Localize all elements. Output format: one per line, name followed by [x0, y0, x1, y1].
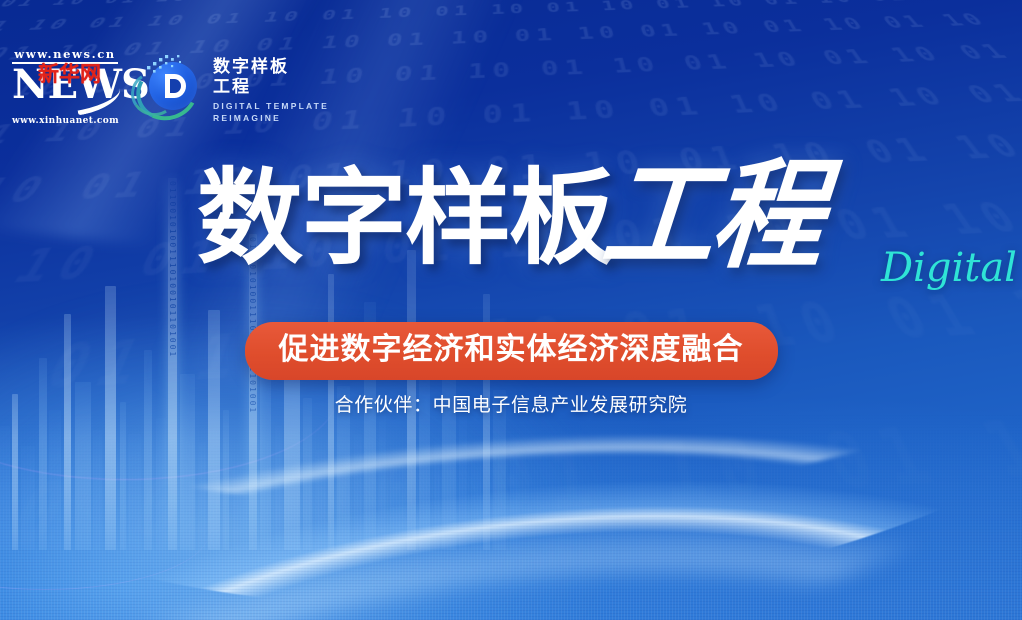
- chart-bar: [379, 414, 386, 550]
- chart-bar: [144, 350, 152, 550]
- weave-texture: [0, 410, 1022, 620]
- slogan-pill: 促进数字经济和实体经济深度融合: [245, 322, 778, 380]
- chart-bar: [49, 410, 61, 550]
- partner-row: 合作伙伴：中国电子信息产业发展研究院: [0, 392, 1022, 418]
- chart-bar: [120, 402, 126, 550]
- hero-title-sub-en: Digital: [881, 248, 1017, 288]
- chart-bar: [510, 434, 519, 550]
- partner-text: 合作伙伴：中国电子信息产业发展研究院: [335, 392, 688, 418]
- dt-title-cn-line2: 工程: [213, 77, 329, 97]
- digital-template-mark-icon: [132, 52, 204, 126]
- xinhua-net-logo[interactable]: www.news.cn NEWS 新华网 www.xinhuanet.com: [12, 46, 118, 126]
- binary-row: 10 01 10 01 10 01 10 01 10 01 10 01 10 0…: [0, 0, 1022, 42]
- chart-bar: [316, 450, 326, 550]
- xinhua-wordmark: NEWS 新华网: [12, 65, 118, 115]
- xinhua-top-url: www.news.cn: [12, 48, 118, 60]
- chart-bar: [0, 426, 10, 550]
- slogan-row: 促进数字经济和实体经济深度融合: [0, 322, 1022, 380]
- chart-bar: [354, 434, 362, 550]
- digital-template-logo[interactable]: 数字样板 工程 DIGITAL TEMPLATE REIMAGINE: [132, 52, 329, 126]
- poster-banner: 01 10 01 10 01 10 01 10 01 10 01 10 01 1…: [0, 0, 1022, 620]
- chart-bar: [21, 446, 35, 550]
- chart-bar: [39, 358, 47, 550]
- hero-title-brush: 工程: [598, 157, 826, 276]
- chart-bar: [459, 406, 467, 550]
- pixel-dots-icon: [146, 54, 186, 80]
- digital-template-wordmark: 数字样板 工程 DIGITAL TEMPLATE REIMAGINE: [213, 55, 329, 124]
- chart-bar: [471, 454, 481, 550]
- chart-bar: [199, 442, 206, 550]
- hero-title: 数字样板 工程 Digital: [0, 160, 1022, 295]
- dt-title-en-line2: REIMAGINE: [213, 112, 329, 124]
- binary-row: 01 10 01 10 01 10 01 10 01 10 01 10 01 1…: [0, 0, 1022, 17]
- chart-bar: [223, 410, 229, 550]
- chart-bar: [93, 430, 102, 550]
- header-logos: www.news.cn NEWS 新华网 www.xinhuanet.com: [12, 46, 329, 126]
- chart-bar: [233, 462, 247, 550]
- chart-bar: [390, 458, 405, 550]
- chart-bar: [303, 398, 312, 550]
- chart-bar: [434, 438, 440, 550]
- hero-title-inner: 数字样板 工程 Digital: [201, 160, 821, 274]
- dt-title-en-line1: DIGITAL TEMPLATE: [213, 100, 329, 112]
- chart-bar: [156, 418, 166, 550]
- decorative-arc-purple-2: [0, 470, 210, 590]
- xinhua-wordmark-cn: 新华网: [38, 63, 101, 85]
- dt-title-cn-line1: 数字样板: [213, 57, 329, 77]
- hero-title-main: 数字样板: [197, 162, 613, 274]
- binary-row: 10 01 10 01 10 01 10 01 10 01 10 01 10 0…: [0, 515, 1022, 620]
- xinhua-bottom-url: www.xinhuanet.com: [12, 116, 118, 126]
- chart-bar: [275, 426, 282, 550]
- chart-bar: [128, 434, 141, 550]
